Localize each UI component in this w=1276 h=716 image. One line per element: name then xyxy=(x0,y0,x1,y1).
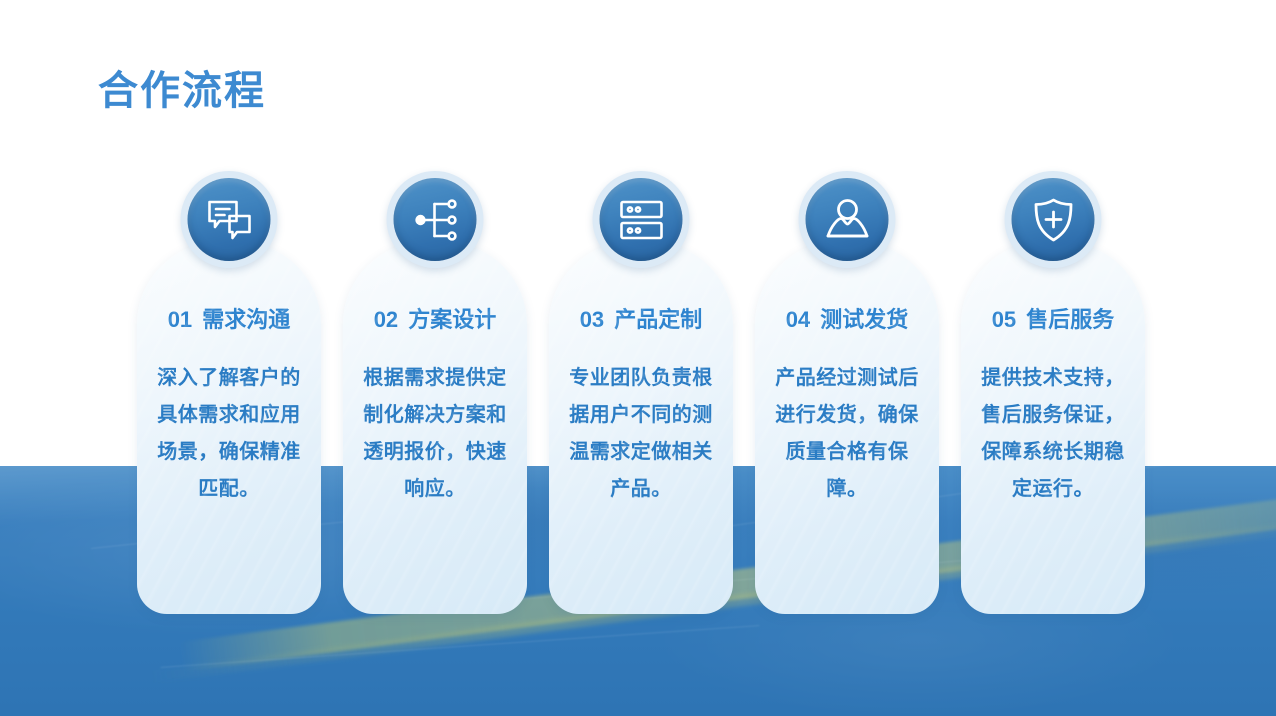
step-title-4: 04 测试发货 xyxy=(755,302,939,334)
process-step-card-3[interactable]: 03 产品定制 专业团队负责根据用户不同的测温需求定做相关产品。 xyxy=(549,242,733,614)
slide-root: 合作流程 01 需求沟通 深入了解客户的具体需求和应用场景，确保精准匹配。 xyxy=(0,0,1276,716)
step-title-2: 02 方案设计 xyxy=(343,302,527,334)
network-nodes-icon xyxy=(394,178,477,261)
step-body-4: 产品经过测试后进行发货，确保质量合格有保障。 xyxy=(769,360,925,508)
step-body-2: 根据需求提供定制化解决方案和透明报价，快速响应。 xyxy=(357,360,513,508)
step-icon-badge-2 xyxy=(387,171,484,268)
chat-bubbles-icon xyxy=(188,178,271,261)
user-person-icon xyxy=(806,178,889,261)
process-step-card-5[interactable]: 05 售后服务 提供技术支持，售后服务保证，保障系统长期稳定运行。 xyxy=(961,242,1145,614)
step-name-3: 产品定制 xyxy=(614,307,702,332)
step-body-3: 专业团队负责根据用户不同的测温需求定做相关产品。 xyxy=(563,360,719,508)
step-number-1: 01 xyxy=(168,307,199,332)
page-title: 合作流程 xyxy=(98,58,266,116)
step-number-4: 04 xyxy=(786,307,817,332)
step-body-1: 深入了解客户的具体需求和应用场景，确保精准匹配。 xyxy=(151,360,307,508)
step-icon-badge-4 xyxy=(799,171,896,268)
step-icon-badge-5 xyxy=(1005,171,1102,268)
step-title-1: 01 需求沟通 xyxy=(137,302,321,334)
process-step-card-1[interactable]: 01 需求沟通 深入了解客户的具体需求和应用场景，确保精准匹配。 xyxy=(137,242,321,614)
step-title-3: 03 产品定制 xyxy=(549,302,733,334)
step-name-2: 方案设计 xyxy=(408,307,496,332)
step-icon-badge-3 xyxy=(593,171,690,268)
step-icon-badge-1 xyxy=(181,171,278,268)
step-number-5: 05 xyxy=(992,307,1023,332)
shield-plus-icon xyxy=(1012,178,1095,261)
process-step-card-2[interactable]: 02 方案设计 根据需求提供定制化解决方案和透明报价，快速响应。 xyxy=(343,242,527,614)
step-name-5: 售后服务 xyxy=(1026,307,1114,332)
step-title-5: 05 售后服务 xyxy=(961,302,1145,334)
step-name-1: 需求沟通 xyxy=(202,307,290,332)
step-name-4: 测试发货 xyxy=(820,307,908,332)
process-steps-list: 01 需求沟通 深入了解客户的具体需求和应用场景，确保精准匹配。 xyxy=(137,242,1145,614)
step-number-3: 03 xyxy=(580,307,611,332)
step-number-2: 02 xyxy=(374,307,405,332)
server-rack-icon xyxy=(600,178,683,261)
process-step-card-4[interactable]: 04 测试发货 产品经过测试后进行发货，确保质量合格有保障。 xyxy=(755,242,939,614)
step-body-5: 提供技术支持，售后服务保证，保障系统长期稳定运行。 xyxy=(975,360,1131,508)
